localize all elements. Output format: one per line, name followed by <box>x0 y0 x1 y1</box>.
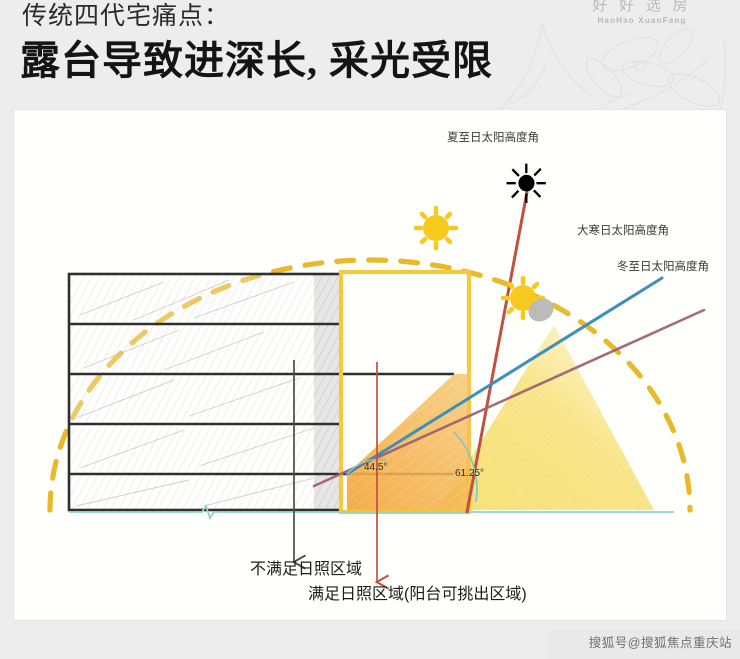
source-watermark: 搜狐号@搜狐焦点重庆站 <box>589 632 732 651</box>
angle-label-upper: 61.25° <box>455 468 484 479</box>
page-title: 露台导致进深长, 采光受限 <box>20 28 493 86</box>
brand-name-cn: 好 好 选 房 <box>552 0 732 12</box>
satisfied-area-texture <box>347 374 469 510</box>
brand-watermark: 好 好 选 房 HaoHao XuanFang <box>552 0 732 25</box>
brand-name-en: HaoHao XuanFang <box>552 16 732 25</box>
angle-label-lower: 44.5° <box>364 462 387 473</box>
solar-angle-diagram <box>14 110 726 620</box>
sun-glyph-summer <box>416 208 456 248</box>
label-summer-solstice: 夏至日太阳高度角 <box>447 129 539 145</box>
caption-unsatisfied-area: 不满足日照区域 <box>250 555 362 579</box>
screenshot-root: 好 好 选 房 HaoHao XuanFang 传统四代宅痛点： 露台导致进深长… <box>0 0 740 659</box>
diagram-panel: 夏至日太阳高度角 大寒日太阳高度角 冬至日太阳高度角 44.5° 61.25° <box>14 110 726 620</box>
caption-satisfied-area: 满足日照区域(阳台可挑出区域) <box>308 580 527 604</box>
label-winter-solstice: 冬至日太阳高度角 <box>617 258 709 274</box>
sun-emoji-icon: ☀ <box>502 158 550 212</box>
label-great-cold: 大寒日太阳高度角 <box>577 222 669 238</box>
